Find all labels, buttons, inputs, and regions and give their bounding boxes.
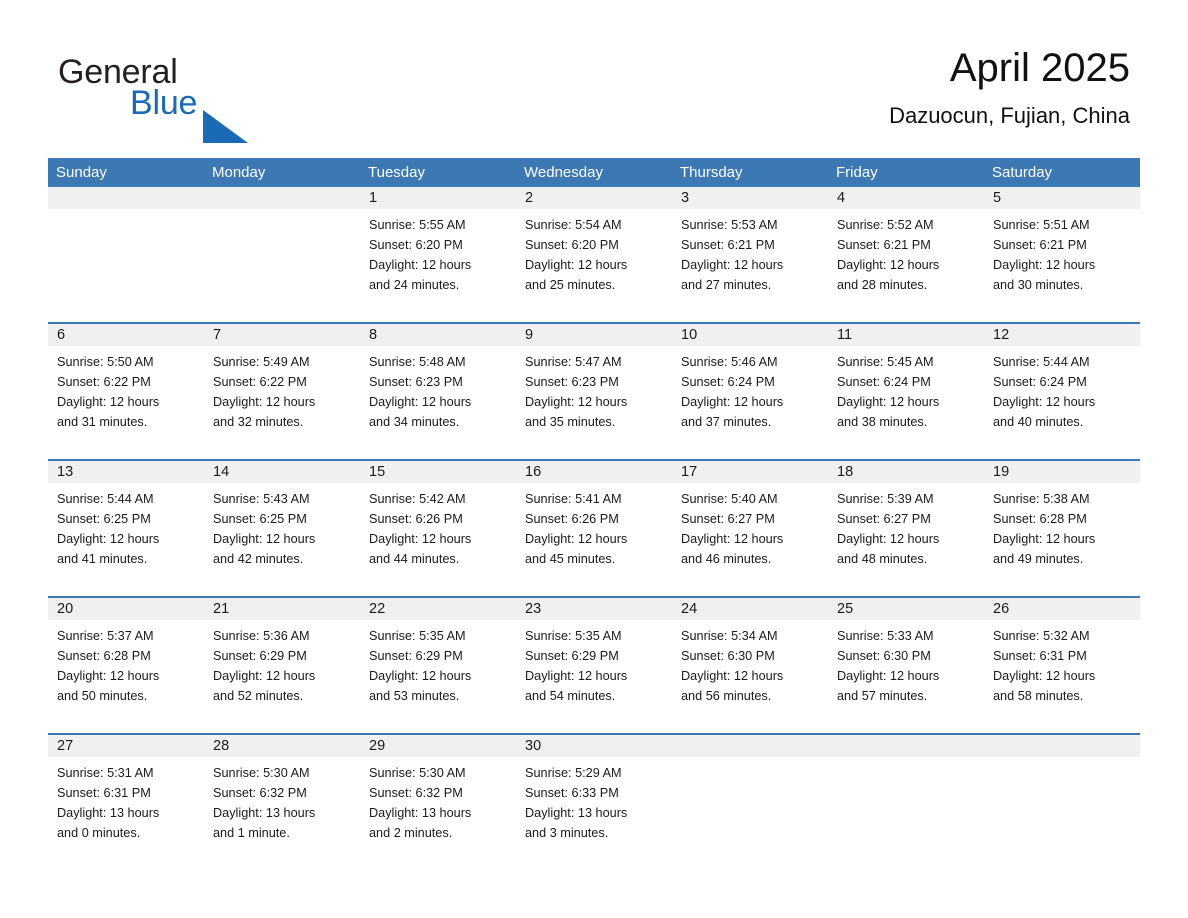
sunrise-text: Sunrise: 5:30 AM [369,763,508,783]
day-number[interactable]: 8 [360,324,516,346]
day-cell[interactable]: Sunrise: 5:39 AMSunset: 6:27 PMDaylight:… [828,483,984,596]
weekday-header-sunday: Sunday [48,158,204,187]
day-number[interactable]: 15 [360,461,516,483]
daylight-text: Daylight: 12 hours [837,392,976,412]
daylight-text: and 1 minute. [213,823,352,843]
day-number[interactable]: 18 [828,461,984,483]
sunrise-text: Sunrise: 5:32 AM [993,626,1132,646]
day-cell[interactable]: Sunrise: 5:44 AMSunset: 6:25 PMDaylight:… [48,483,204,596]
day-number[interactable]: 4 [828,187,984,209]
sunrise-text: Sunrise: 5:42 AM [369,489,508,509]
sunrise-text: Sunrise: 5:35 AM [525,626,664,646]
day-number[interactable]: 3 [672,187,828,209]
daylight-text: and 38 minutes. [837,412,976,432]
day-number[interactable]: 2 [516,187,672,209]
day-cell[interactable]: Sunrise: 5:52 AMSunset: 6:21 PMDaylight:… [828,209,984,322]
day-number[interactable]: 7 [204,324,360,346]
daylight-text: Daylight: 13 hours [213,803,352,823]
sunset-text: Sunset: 6:28 PM [57,646,196,666]
day-cell[interactable]: Sunrise: 5:29 AMSunset: 6:33 PMDaylight:… [516,757,672,870]
sunrise-text: Sunrise: 5:31 AM [57,763,196,783]
week-daynumber-band: 6789101112 [48,324,1140,346]
week-detail-band: Sunrise: 5:55 AMSunset: 6:20 PMDaylight:… [48,209,1140,322]
weekday-header-tuesday: Tuesday [360,158,516,187]
sunrise-text: Sunrise: 5:47 AM [525,352,664,372]
logo-text-blue: Blue [130,83,197,123]
day-cell[interactable]: Sunrise: 5:38 AMSunset: 6:28 PMDaylight:… [984,483,1140,596]
sunset-text: Sunset: 6:27 PM [681,509,820,529]
day-cell[interactable]: Sunrise: 5:33 AMSunset: 6:30 PMDaylight:… [828,620,984,733]
day-number-empty [984,735,1140,757]
sunset-text: Sunset: 6:26 PM [369,509,508,529]
day-number-empty [672,735,828,757]
day-number-empty [828,735,984,757]
weekday-header-friday: Friday [828,158,984,187]
day-cell[interactable]: Sunrise: 5:30 AMSunset: 6:32 PMDaylight:… [204,757,360,870]
day-cell[interactable]: Sunrise: 5:46 AMSunset: 6:24 PMDaylight:… [672,346,828,459]
day-number[interactable]: 20 [48,598,204,620]
daylight-text: Daylight: 12 hours [681,666,820,686]
day-number[interactable]: 16 [516,461,672,483]
sunrise-text: Sunrise: 5:30 AM [213,763,352,783]
calendar-week-row: 13141516171819Sunrise: 5:44 AMSunset: 6:… [48,459,1140,596]
sunrise-text: Sunrise: 5:44 AM [57,489,196,509]
day-cell[interactable]: Sunrise: 5:34 AMSunset: 6:30 PMDaylight:… [672,620,828,733]
day-number[interactable]: 29 [360,735,516,757]
sunset-text: Sunset: 6:31 PM [993,646,1132,666]
daylight-text: and 3 minutes. [525,823,664,843]
day-number[interactable]: 24 [672,598,828,620]
sunset-text: Sunset: 6:24 PM [993,372,1132,392]
day-cell[interactable]: Sunrise: 5:50 AMSunset: 6:22 PMDaylight:… [48,346,204,459]
daylight-text: and 2 minutes. [369,823,508,843]
daylight-text: and 56 minutes. [681,686,820,706]
sunset-text: Sunset: 6:32 PM [213,783,352,803]
day-number[interactable]: 27 [48,735,204,757]
logo-triangle-icon [203,110,248,143]
location-subtitle: Dazuocun, Fujian, China [889,101,1130,131]
day-cell[interactable]: Sunrise: 5:35 AMSunset: 6:29 PMDaylight:… [516,620,672,733]
calendar-week-row: 6789101112Sunrise: 5:50 AMSunset: 6:22 P… [48,322,1140,459]
daylight-text: and 45 minutes. [525,549,664,569]
day-cell[interactable]: Sunrise: 5:53 AMSunset: 6:21 PMDaylight:… [672,209,828,322]
sunset-text: Sunset: 6:33 PM [525,783,664,803]
sunset-text: Sunset: 6:31 PM [57,783,196,803]
sunset-text: Sunset: 6:21 PM [681,235,820,255]
daylight-text: Daylight: 12 hours [57,392,196,412]
day-number[interactable]: 13 [48,461,204,483]
week-detail-band: Sunrise: 5:37 AMSunset: 6:28 PMDaylight:… [48,620,1140,733]
sunrise-text: Sunrise: 5:29 AM [525,763,664,783]
daylight-text: and 32 minutes. [213,412,352,432]
daylight-text: Daylight: 13 hours [525,803,664,823]
daylight-text: and 0 minutes. [57,823,196,843]
weekday-header-wednesday: Wednesday [516,158,672,187]
day-number[interactable]: 26 [984,598,1140,620]
sunset-text: Sunset: 6:29 PM [213,646,352,666]
day-cell[interactable]: Sunrise: 5:54 AMSunset: 6:20 PMDaylight:… [516,209,672,322]
sunrise-text: Sunrise: 5:40 AM [681,489,820,509]
day-cell[interactable]: Sunrise: 5:31 AMSunset: 6:31 PMDaylight:… [48,757,204,870]
sunset-text: Sunset: 6:24 PM [837,372,976,392]
day-number[interactable]: 17 [672,461,828,483]
day-cell[interactable]: Sunrise: 5:32 AMSunset: 6:31 PMDaylight:… [984,620,1140,733]
sunrise-text: Sunrise: 5:35 AM [369,626,508,646]
daylight-text: Daylight: 12 hours [681,255,820,275]
day-cell-empty [204,209,360,322]
daylight-text: Daylight: 12 hours [57,529,196,549]
daylight-text: Daylight: 12 hours [525,529,664,549]
sunrise-text: Sunrise: 5:34 AM [681,626,820,646]
calendar-weeks: 12345Sunrise: 5:55 AMSunset: 6:20 PMDayl… [48,187,1140,870]
day-number[interactable]: 5 [984,187,1140,209]
day-cell[interactable]: Sunrise: 5:42 AMSunset: 6:26 PMDaylight:… [360,483,516,596]
general-blue-logo: General Blue [58,52,358,130]
daylight-text: and 53 minutes. [369,686,508,706]
day-cell[interactable]: Sunrise: 5:44 AMSunset: 6:24 PMDaylight:… [984,346,1140,459]
daylight-text: Daylight: 12 hours [369,529,508,549]
day-cell[interactable]: Sunrise: 5:55 AMSunset: 6:20 PMDaylight:… [360,209,516,322]
sunrise-text: Sunrise: 5:36 AM [213,626,352,646]
daylight-text: and 58 minutes. [993,686,1132,706]
daylight-text: and 30 minutes. [993,275,1132,295]
daylight-text: and 24 minutes. [369,275,508,295]
daylight-text: Daylight: 12 hours [681,529,820,549]
day-cell[interactable]: Sunrise: 5:36 AMSunset: 6:29 PMDaylight:… [204,620,360,733]
sunrise-text: Sunrise: 5:37 AM [57,626,196,646]
daylight-text: and 50 minutes. [57,686,196,706]
daylight-text: Daylight: 12 hours [525,392,664,412]
title-block: April 2025 Dazuocun, Fujian, China [889,44,1130,131]
sunrise-text: Sunrise: 5:33 AM [837,626,976,646]
day-cell[interactable]: Sunrise: 5:35 AMSunset: 6:29 PMDaylight:… [360,620,516,733]
sunrise-text: Sunrise: 5:49 AM [213,352,352,372]
daylight-text: Daylight: 12 hours [993,529,1132,549]
daylight-text: and 52 minutes. [213,686,352,706]
sunset-text: Sunset: 6:29 PM [369,646,508,666]
sunset-text: Sunset: 6:25 PM [57,509,196,529]
sunrise-text: Sunrise: 5:50 AM [57,352,196,372]
sunrise-text: Sunrise: 5:41 AM [525,489,664,509]
day-cell[interactable]: Sunrise: 5:51 AMSunset: 6:21 PMDaylight:… [984,209,1140,322]
sunset-text: Sunset: 6:23 PM [525,372,664,392]
week-daynumber-band: 27282930 [48,735,1140,757]
calendar-week-row: 12345Sunrise: 5:55 AMSunset: 6:20 PMDayl… [48,187,1140,322]
week-daynumber-band: 12345 [48,187,1140,209]
day-number[interactable]: 14 [204,461,360,483]
daylight-text: and 42 minutes. [213,549,352,569]
day-cell-empty [672,757,828,870]
daylight-text: Daylight: 12 hours [993,666,1132,686]
page-title: April 2025 [889,44,1130,92]
sunset-text: Sunset: 6:21 PM [837,235,976,255]
page-header: General Blue April 2025 Dazuocun, Fujian… [0,0,1188,155]
sunrise-text: Sunrise: 5:48 AM [369,352,508,372]
day-cell[interactable]: Sunrise: 5:48 AMSunset: 6:23 PMDaylight:… [360,346,516,459]
sunrise-text: Sunrise: 5:43 AM [213,489,352,509]
sunset-text: Sunset: 6:27 PM [837,509,976,529]
day-number-empty [48,187,204,209]
daylight-text: Daylight: 12 hours [681,392,820,412]
weekday-header-monday: Monday [204,158,360,187]
daylight-text: Daylight: 12 hours [57,666,196,686]
daylight-text: and 25 minutes. [525,275,664,295]
daylight-text: and 27 minutes. [681,275,820,295]
sunrise-text: Sunrise: 5:51 AM [993,215,1132,235]
daylight-text: and 40 minutes. [993,412,1132,432]
day-number[interactable]: 30 [516,735,672,757]
weekday-header-saturday: Saturday [984,158,1140,187]
daylight-text: Daylight: 12 hours [837,666,976,686]
sunset-text: Sunset: 6:20 PM [369,235,508,255]
daylight-text: Daylight: 12 hours [369,392,508,412]
daylight-text: and 46 minutes. [681,549,820,569]
sunrise-text: Sunrise: 5:39 AM [837,489,976,509]
day-number[interactable]: 1 [360,187,516,209]
sunset-text: Sunset: 6:22 PM [213,372,352,392]
sunset-text: Sunset: 6:23 PM [369,372,508,392]
week-detail-band: Sunrise: 5:50 AMSunset: 6:22 PMDaylight:… [48,346,1140,459]
daylight-text: Daylight: 12 hours [369,255,508,275]
sunrise-text: Sunrise: 5:52 AM [837,215,976,235]
daylight-text: and 41 minutes. [57,549,196,569]
sunset-text: Sunset: 6:26 PM [525,509,664,529]
day-cell[interactable]: Sunrise: 5:30 AMSunset: 6:32 PMDaylight:… [360,757,516,870]
day-number[interactable]: 22 [360,598,516,620]
daylight-text: Daylight: 13 hours [57,803,196,823]
sunset-text: Sunset: 6:25 PM [213,509,352,529]
daylight-text: and 35 minutes. [525,412,664,432]
daylight-text: Daylight: 12 hours [993,392,1132,412]
daylight-text: and 54 minutes. [525,686,664,706]
daylight-text: and 34 minutes. [369,412,508,432]
day-number[interactable]: 23 [516,598,672,620]
weekday-header-thursday: Thursday [672,158,828,187]
day-number[interactable]: 9 [516,324,672,346]
day-cell[interactable]: Sunrise: 5:40 AMSunset: 6:27 PMDaylight:… [672,483,828,596]
sunset-text: Sunset: 6:32 PM [369,783,508,803]
sunset-text: Sunset: 6:22 PM [57,372,196,392]
sunrise-text: Sunrise: 5:44 AM [993,352,1132,372]
calendar-week-row: 20212223242526Sunrise: 5:37 AMSunset: 6:… [48,596,1140,733]
sunrise-text: Sunrise: 5:45 AM [837,352,976,372]
daylight-text: Daylight: 12 hours [213,392,352,412]
daylight-text: and 48 minutes. [837,549,976,569]
calendar-table: Sunday Monday Tuesday Wednesday Thursday… [48,158,1140,870]
daylight-text: and 57 minutes. [837,686,976,706]
sunrise-text: Sunrise: 5:53 AM [681,215,820,235]
daylight-text: Daylight: 12 hours [525,255,664,275]
sunset-text: Sunset: 6:29 PM [525,646,664,666]
sunrise-text: Sunrise: 5:55 AM [369,215,508,235]
daylight-text: and 44 minutes. [369,549,508,569]
day-cell[interactable]: Sunrise: 5:45 AMSunset: 6:24 PMDaylight:… [828,346,984,459]
daylight-text: and 37 minutes. [681,412,820,432]
daylight-text: Daylight: 12 hours [525,666,664,686]
sunset-text: Sunset: 6:30 PM [837,646,976,666]
daylight-text: Daylight: 12 hours [993,255,1132,275]
day-number[interactable]: 12 [984,324,1140,346]
day-cell-empty [828,757,984,870]
day-number[interactable]: 19 [984,461,1140,483]
sunrise-text: Sunrise: 5:38 AM [993,489,1132,509]
day-cell[interactable]: Sunrise: 5:43 AMSunset: 6:25 PMDaylight:… [204,483,360,596]
daylight-text: Daylight: 12 hours [213,529,352,549]
daylight-text: Daylight: 12 hours [837,529,976,549]
day-number[interactable]: 25 [828,598,984,620]
day-number-empty [204,187,360,209]
sunset-text: Sunset: 6:30 PM [681,646,820,666]
day-number[interactable]: 10 [672,324,828,346]
daylight-text: and 49 minutes. [993,549,1132,569]
week-daynumber-band: 13141516171819 [48,461,1140,483]
day-number[interactable]: 6 [48,324,204,346]
sunset-text: Sunset: 6:24 PM [681,372,820,392]
week-daynumber-band: 20212223242526 [48,598,1140,620]
daylight-text: and 31 minutes. [57,412,196,432]
daylight-text: Daylight: 12 hours [369,666,508,686]
day-cell[interactable]: Sunrise: 5:37 AMSunset: 6:28 PMDaylight:… [48,620,204,733]
week-detail-band: Sunrise: 5:44 AMSunset: 6:25 PMDaylight:… [48,483,1140,596]
day-cell[interactable]: Sunrise: 5:47 AMSunset: 6:23 PMDaylight:… [516,346,672,459]
day-number[interactable]: 28 [204,735,360,757]
daylight-text: Daylight: 12 hours [837,255,976,275]
week-detail-band: Sunrise: 5:31 AMSunset: 6:31 PMDaylight:… [48,757,1140,870]
day-cell-empty [984,757,1140,870]
day-cell-empty [48,209,204,322]
day-cell[interactable]: Sunrise: 5:49 AMSunset: 6:22 PMDaylight:… [204,346,360,459]
sunset-text: Sunset: 6:28 PM [993,509,1132,529]
sunset-text: Sunset: 6:20 PM [525,235,664,255]
daylight-text: Daylight: 12 hours [213,666,352,686]
calendar-week-row: 27282930Sunrise: 5:31 AMSunset: 6:31 PMD… [48,733,1140,870]
daylight-text: Daylight: 13 hours [369,803,508,823]
sunrise-text: Sunrise: 5:46 AM [681,352,820,372]
day-cell[interactable]: Sunrise: 5:41 AMSunset: 6:26 PMDaylight:… [516,483,672,596]
day-number[interactable]: 11 [828,324,984,346]
daylight-text: and 28 minutes. [837,275,976,295]
sunset-text: Sunset: 6:21 PM [993,235,1132,255]
sunrise-text: Sunrise: 5:54 AM [525,215,664,235]
weekday-header-row: Sunday Monday Tuesday Wednesday Thursday… [48,158,1140,187]
day-number[interactable]: 21 [204,598,360,620]
